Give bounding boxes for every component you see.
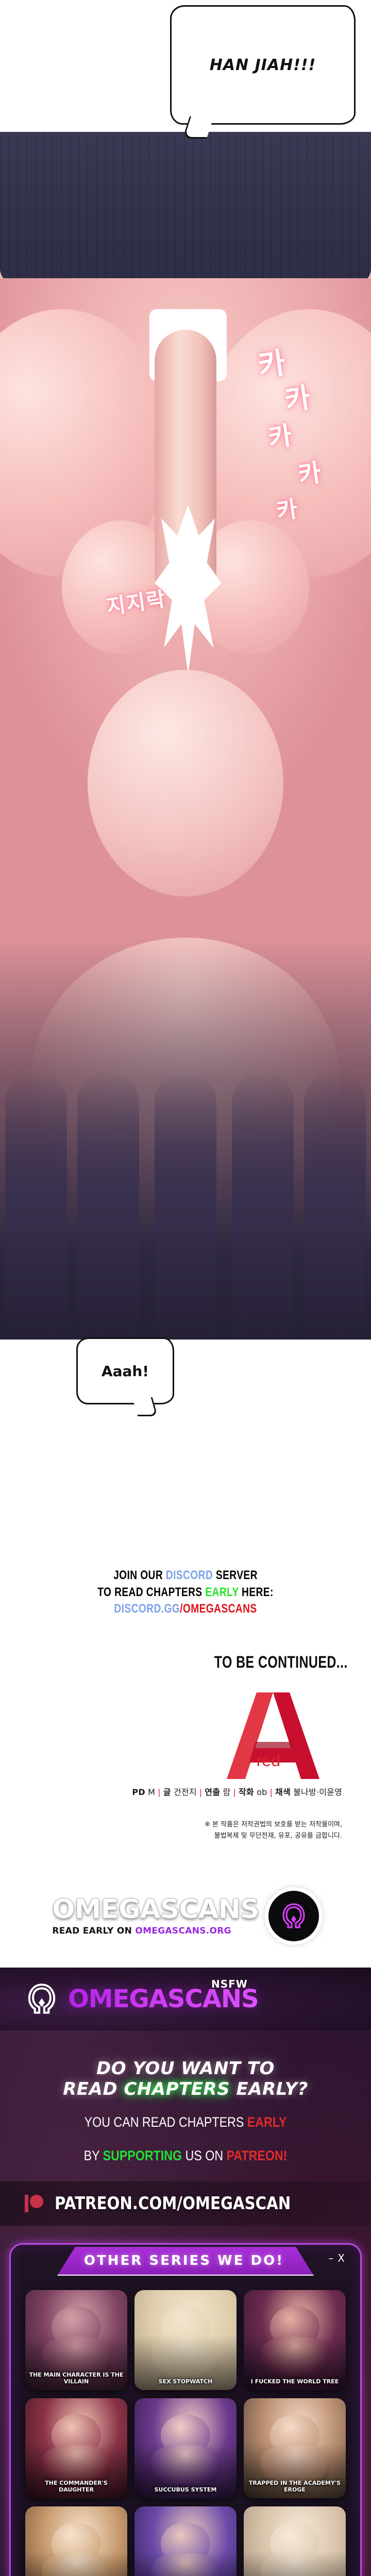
- discord-line1-prefix: JOIN OUR: [113, 1568, 166, 1582]
- webtoon-chapter-page: 카 카 카 카 카 지지락 HAN JIAH!!! Aaah! JOIN OUR…: [0, 0, 371, 2576]
- omegascans-domain-link[interactable]: OMEGASCANS.ORG: [135, 1926, 231, 1936]
- omegascans-word-scans: SCANS: [160, 1894, 259, 1925]
- series-card-title: TRAPPED IN THE ACADEMY'S EROGE: [244, 2477, 346, 2498]
- series-cover-figure: [161, 2414, 210, 2456]
- patreon-sub1-early: EARLY: [247, 2114, 287, 2130]
- patreon-q2-highlight: CHAPTERS: [124, 2079, 230, 2099]
- omegascans-subtitle-prefix: READ EARLY ON: [52, 1926, 135, 1936]
- omegascans-subtitle: READ EARLY ON OMEGASCANS.ORG: [52, 1926, 259, 1936]
- credit-role-label: 작화: [239, 1787, 254, 1797]
- omegascans-emblem-icon: [268, 1891, 319, 1941]
- credit-role-label: 글: [163, 1787, 171, 1797]
- ared-logo-word: red: [257, 1751, 280, 1770]
- credit-separator: |: [230, 1787, 239, 1797]
- patreon-logo-icon: [23, 2192, 45, 2215]
- series-card-title: SUCCUBUS SYSTEM: [134, 2483, 237, 2498]
- copyright-notice-line-1: ※ 본 작품은 저작권법의 보호를 받는 저작물이며,: [0, 1819, 342, 1831]
- series-card-title: THE COMMANDER'S DAUGHTER: [25, 2477, 127, 2498]
- series-card[interactable]: THE COMMANDER'S DAUGHTER: [25, 2398, 127, 2498]
- early-word: EARLY: [205, 1585, 239, 1599]
- speech-bubble-shout: HAN JIAH!!!: [170, 5, 356, 125]
- credit-role-label: 채색: [275, 1787, 291, 1797]
- publisher-credits-block: red PD M|글 건전지|연출 람|작화 ob|채색 불나방·이윤영 ※ 본…: [0, 1677, 371, 1865]
- series-card[interactable]: THE MAIN CHARACTER IS THE VILLAIN: [25, 2290, 127, 2390]
- series-card[interactable]: SEX STOPWATCH: [134, 2290, 237, 2390]
- series-cover-art: [25, 2506, 127, 2576]
- credit-role-name: 불나방·이윤영: [293, 1787, 342, 1797]
- art-impact-burst: [155, 505, 222, 675]
- patreon-sub1-prefix: YOU CAN READ CHAPTERS: [85, 2114, 247, 2130]
- art-shape: [77, 1072, 139, 1340]
- nsfw-word-omega: OMEGA: [68, 1985, 167, 2013]
- patreon-sub2-supporting: SUPPORTING: [103, 2148, 182, 2163]
- series-card-title: I FUCKED THE WORLD TREE: [244, 2375, 346, 2390]
- patreon-sub-line-1: YOU CAN READ CHAPTERS EARLY: [26, 2112, 345, 2133]
- series-cover-figure: [260, 2336, 330, 2377]
- speech-bubble-moan-text: Aaah!: [102, 1363, 149, 1380]
- credit-separator: |: [267, 1787, 275, 1797]
- discord-invite-link[interactable]: DISCORD.GG/OMEGASCANS: [41, 1601, 330, 1618]
- series-card[interactable]: A WONDERFUL NEW WORLD: [134, 2506, 237, 2576]
- series-cover-figure: [151, 2336, 221, 2377]
- art-shape: [304, 1072, 366, 1340]
- copyright-notice-line-2: 불법복제 및 무단전재, 유포, 공유를 금합니다.: [0, 1831, 342, 1842]
- discord-line1-suffix: SERVER: [213, 1568, 258, 1582]
- series-cover-figure: [42, 2553, 111, 2576]
- ared-logo: red: [0, 1690, 371, 1782]
- copyright-notice: ※ 본 작품은 저작권법의 보호를 받는 저작물이며, 불법복제 및 무단전재,…: [0, 1819, 371, 1842]
- omegascans-word-omega: OMEGA: [52, 1894, 160, 1925]
- credit-role-label: PD: [132, 1787, 145, 1797]
- series-cover-figure: [270, 2306, 319, 2348]
- series-cover-figure: [260, 2553, 330, 2576]
- omegascans-word-row: OMEGASCANS: [52, 1896, 259, 1923]
- nsfw-banner-wordmark: OMEGASCANS: [68, 1987, 259, 2011]
- series-card[interactable]: HERBAL LOVE STORY: [25, 2506, 127, 2576]
- omegascans-nsfw-banner: OMEGASCANS NSFW: [0, 1968, 371, 2030]
- omega-a-icon-white: [24, 1980, 60, 2018]
- nsfw-tag-label: NSFW: [211, 1978, 248, 1990]
- patreon-promo-block: DO YOU WANT TO READ CHAPTERS EARLY? YOU …: [0, 2030, 371, 2576]
- credit-role-label: 연출: [205, 1787, 220, 1797]
- patreon-q2-suffix: EARLY?: [230, 2079, 308, 2099]
- other-series-titlebar: OTHER SERIES WE DO! –X: [11, 2245, 360, 2285]
- series-grid: THE MAIN CHARACTER IS THE VILLAINSEX STO…: [11, 2285, 360, 2576]
- patreon-url-text: PATREON.COM/OMEGASCAN: [55, 2193, 291, 2214]
- speech-bubble-moan: Aaah!: [76, 1337, 174, 1404]
- patreon-q2-prefix: READ: [63, 2079, 124, 2099]
- series-card[interactable]: TRAPPED IN THE ACADEMY'S EROGE: [244, 2398, 346, 2498]
- credit-separator: |: [197, 1787, 205, 1797]
- credit-role-name: 람: [223, 1787, 230, 1797]
- other-series-title: OTHER SERIES WE DO!: [57, 2247, 314, 2276]
- series-card-title: THE MAIN CHARACTER IS THE VILLAIN: [25, 2368, 127, 2390]
- patreon-sub2-mid: US ON: [182, 2148, 226, 2163]
- series-cover-figure: [270, 2522, 319, 2564]
- series-cover-art: [134, 2506, 237, 2576]
- series-card[interactable]: MY ILLUSTRATOR!: [244, 2506, 346, 2576]
- comic-panel: 카 카 카 카 카 지지락 HAN JIAH!!! Aaah!: [0, 0, 371, 1540]
- patreon-question-line-1: DO YOU WANT TO: [0, 2058, 371, 2079]
- series-cover-figure: [52, 2522, 100, 2564]
- art-shape: [155, 1072, 216, 1340]
- art-shape: [232, 1072, 294, 1340]
- korean-staff-credits: PD M|글 건전지|연출 람|작화 ob|채색 불나방·이윤영: [0, 1785, 371, 1798]
- minimize-icon[interactable]: –: [328, 2252, 338, 2264]
- series-cover-figure: [161, 2522, 210, 2564]
- series-card-title: SEX STOPWATCH: [134, 2375, 237, 2390]
- discord-promo-line-1: JOIN OUR DISCORD SERVER: [41, 1567, 330, 1584]
- omegascans-white-banner: OMEGASCANS READ EARLY ON OMEGASCANS.ORG: [0, 1865, 371, 1968]
- series-cover-figure: [52, 2414, 100, 2456]
- patreon-question-line-2: READ CHAPTERS EARLY?: [0, 2079, 371, 2099]
- series-cover-figure: [151, 2445, 221, 2485]
- credit-role-name: 건전지: [174, 1787, 197, 1797]
- discord-path: /OMEGASCANS: [180, 1602, 257, 1616]
- to-be-continued-block: TO BE CONTINUED...: [0, 1631, 371, 1677]
- credit-separator: |: [155, 1787, 163, 1797]
- speech-bubble-shout-text: HAN JIAH!!!: [210, 56, 316, 74]
- comic-artwork: 카 카 카 카 카 지지락: [0, 278, 371, 1340]
- patreon-sub2-prefix: BY: [84, 2148, 103, 2163]
- omegascans-wordmark: OMEGASCANS READ EARLY ON OMEGASCANS.ORG: [52, 1896, 259, 1936]
- discord-promo-line-2: TO READ CHAPTERS EARLY HERE:: [41, 1584, 330, 1601]
- series-cover-figure: [270, 2414, 319, 2456]
- patreon-sub2-patreon: PATREON!: [227, 2148, 288, 2163]
- series-cover-figure: [151, 2553, 221, 2576]
- series-card[interactable]: SUCCUBUS SYSTEM: [134, 2398, 237, 2498]
- series-cover-art: [244, 2506, 346, 2576]
- other-series-window: OTHER SERIES WE DO! –X THE MAIN CHARACTE…: [9, 2243, 362, 2576]
- discord-domain: DISCORD.GG: [114, 1602, 180, 1616]
- other-series-window-controls[interactable]: –X: [328, 2252, 349, 2264]
- series-cover-figure: [52, 2306, 100, 2348]
- close-icon[interactable]: X: [338, 2252, 349, 2264]
- discord-line2-prefix: TO READ CHAPTERS: [97, 1585, 205, 1599]
- credit-role-name: M: [148, 1787, 155, 1797]
- patreon-sub-line-2: BY SUPPORTING US ON PATREON!: [26, 2145, 345, 2166]
- discord-word: DISCORD: [166, 1568, 213, 1582]
- omega-a-icon: [279, 1901, 309, 1931]
- discord-promo-block: JOIN OUR DISCORD SERVER TO READ CHAPTERS…: [0, 1540, 371, 1631]
- art-shape: [5, 1072, 67, 1340]
- art-shape: [88, 670, 283, 896]
- discord-line2-suffix: HERE:: [239, 1585, 273, 1599]
- series-cover-figure: [161, 2306, 210, 2348]
- series-card[interactable]: I FUCKED THE WORLD TREE: [244, 2290, 346, 2390]
- patreon-url-bar[interactable]: PATREON.COM/OMEGASCAN: [0, 2181, 371, 2226]
- credit-role-name: ob: [257, 1787, 267, 1797]
- to-be-continued-text: TO BE CONTINUED...: [81, 1653, 371, 1672]
